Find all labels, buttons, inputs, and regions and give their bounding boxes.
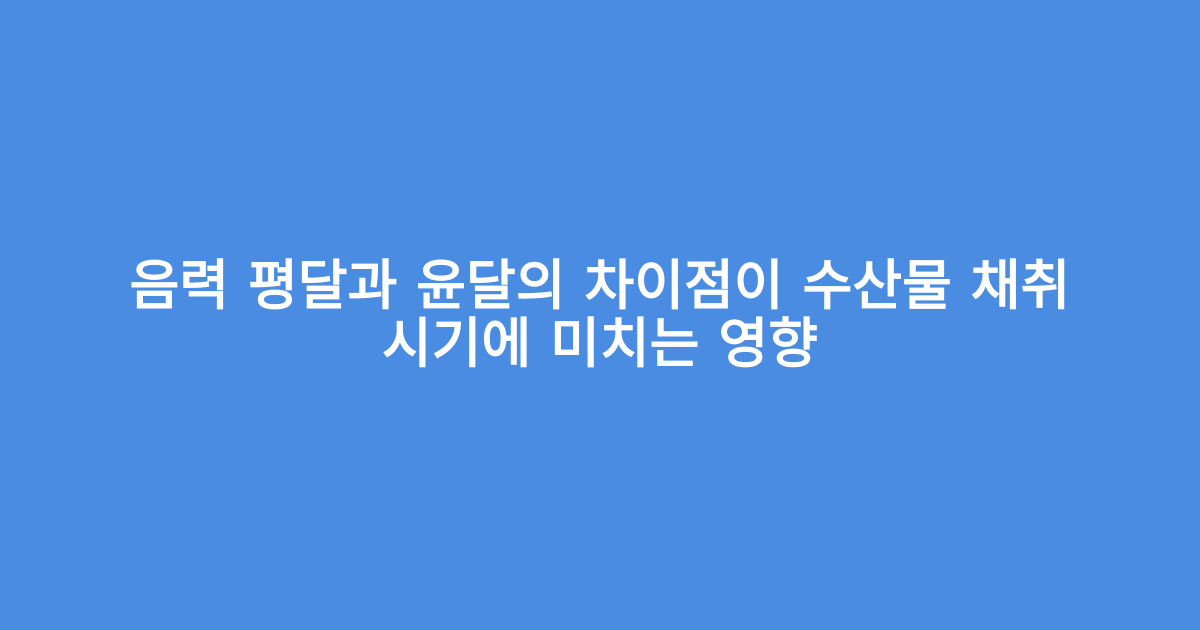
page-title: 음력 평달과 윤달의 차이점이 수산물 채취 시기에 미치는 영향 [70,257,1130,373]
share-card: 음력 평달과 윤달의 차이점이 수산물 채취 시기에 미치는 영향 [0,0,1200,630]
headline-block: 음력 평달과 윤달의 차이점이 수산물 채취 시기에 미치는 영향 [60,257,1140,373]
